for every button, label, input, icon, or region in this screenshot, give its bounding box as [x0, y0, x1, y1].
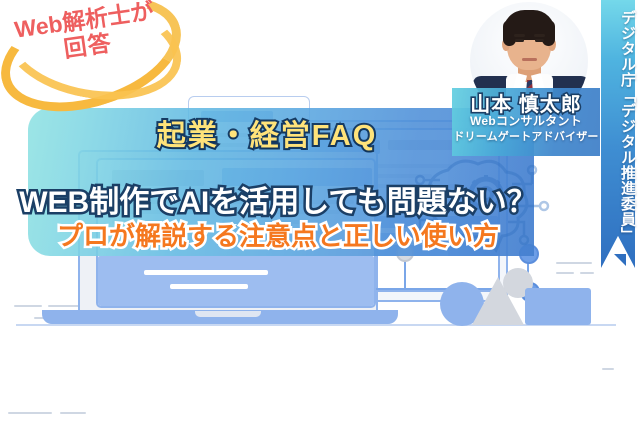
laptop-cta-band [98, 256, 374, 306]
rectangle-shape [525, 288, 591, 325]
decor-dash [8, 412, 52, 414]
eyebrow-left [514, 34, 525, 37]
eye-left [515, 39, 524, 42]
laptop-cta-line [144, 270, 268, 275]
credential-ribbon-text: デジタル庁「デジタル推進委員」 [601, 6, 635, 264]
hair-side-right [542, 20, 555, 46]
profile-role-primary: Webコンサルタント [452, 112, 600, 129]
decor-dash [580, 272, 594, 274]
answer-badge: Web解析士が 回答 [0, 0, 184, 104]
decor-dash [14, 305, 42, 307]
profile-role-secondary: ドリームゲートアドバイザー [448, 128, 604, 144]
decor-dash [556, 272, 574, 274]
decor-dash [602, 368, 614, 370]
laptop-base-notch [195, 311, 261, 317]
ribbon-fold [614, 254, 626, 266]
mouth [522, 58, 537, 61]
decor-dash [48, 305, 82, 307]
eyebrow-right [534, 34, 545, 37]
laptop-cta-line [170, 284, 248, 289]
thumbnail-canvas: 起業・経営FAQ WEB制作でAIを活用しても問題ない？ プロが解説する注意点と… [0, 0, 640, 427]
triangle-shape [472, 277, 524, 325]
eye-right [535, 39, 544, 42]
hair-side-left [503, 20, 516, 46]
ai-brain-circuit-icon [400, 150, 570, 260]
decor-dash [556, 262, 592, 264]
decor-dash [60, 412, 86, 414]
